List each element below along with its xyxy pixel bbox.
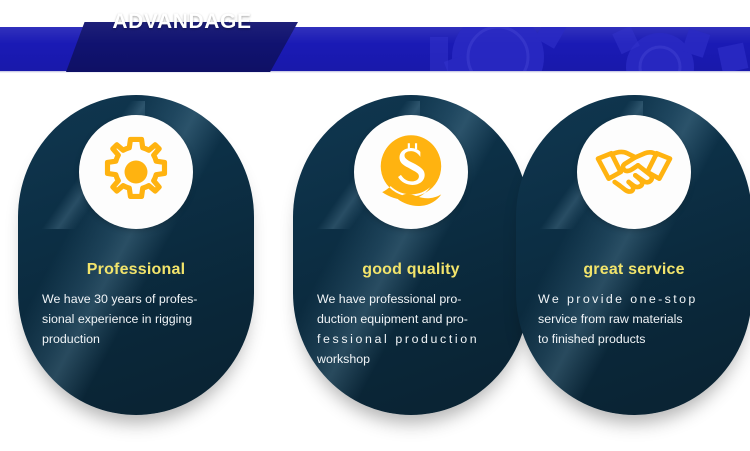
- card-body: We provide one-stop service from raw mat…: [538, 289, 730, 349]
- gear-watermark-icon: [420, 27, 750, 71]
- card-body-line: We have 30 years of profes-: [42, 289, 230, 309]
- card-body-line: sional experience in rigging: [42, 309, 230, 329]
- card-body-line: fessional production: [317, 329, 505, 349]
- card-body-line: to finished products: [538, 329, 730, 349]
- card-body: We have professional pro- duction equipm…: [317, 289, 505, 369]
- gear-icon: [79, 115, 193, 229]
- card-title: Professional: [18, 261, 254, 279]
- advantage-card-good-quality[interactable]: good quality We have professional pro- d…: [293, 95, 529, 415]
- advantage-card-great-service[interactable]: great service We provide one-stop servic…: [516, 95, 750, 415]
- handshake-icon: [577, 115, 691, 229]
- card-title: great service: [516, 261, 750, 279]
- card-body-line: duction equipment and pro-: [317, 309, 505, 329]
- card-body-line: service from raw materials: [538, 309, 730, 329]
- card-body: We have 30 years of profes- sional exper…: [42, 289, 230, 349]
- card-body-line: We have professional pro-: [317, 289, 505, 309]
- card-body-line: production: [42, 329, 230, 349]
- section-title: ADVANDAGE: [66, 0, 298, 47]
- advantage-cards: Professional We have 30 years of profes-…: [0, 95, 750, 451]
- card-body-line: workshop: [317, 349, 505, 369]
- card-title: good quality: [293, 261, 529, 279]
- card-body-line: We provide one-stop: [538, 289, 730, 309]
- qs-monogram-icon: [354, 115, 468, 229]
- advantage-card-professional[interactable]: Professional We have 30 years of profes-…: [18, 95, 254, 415]
